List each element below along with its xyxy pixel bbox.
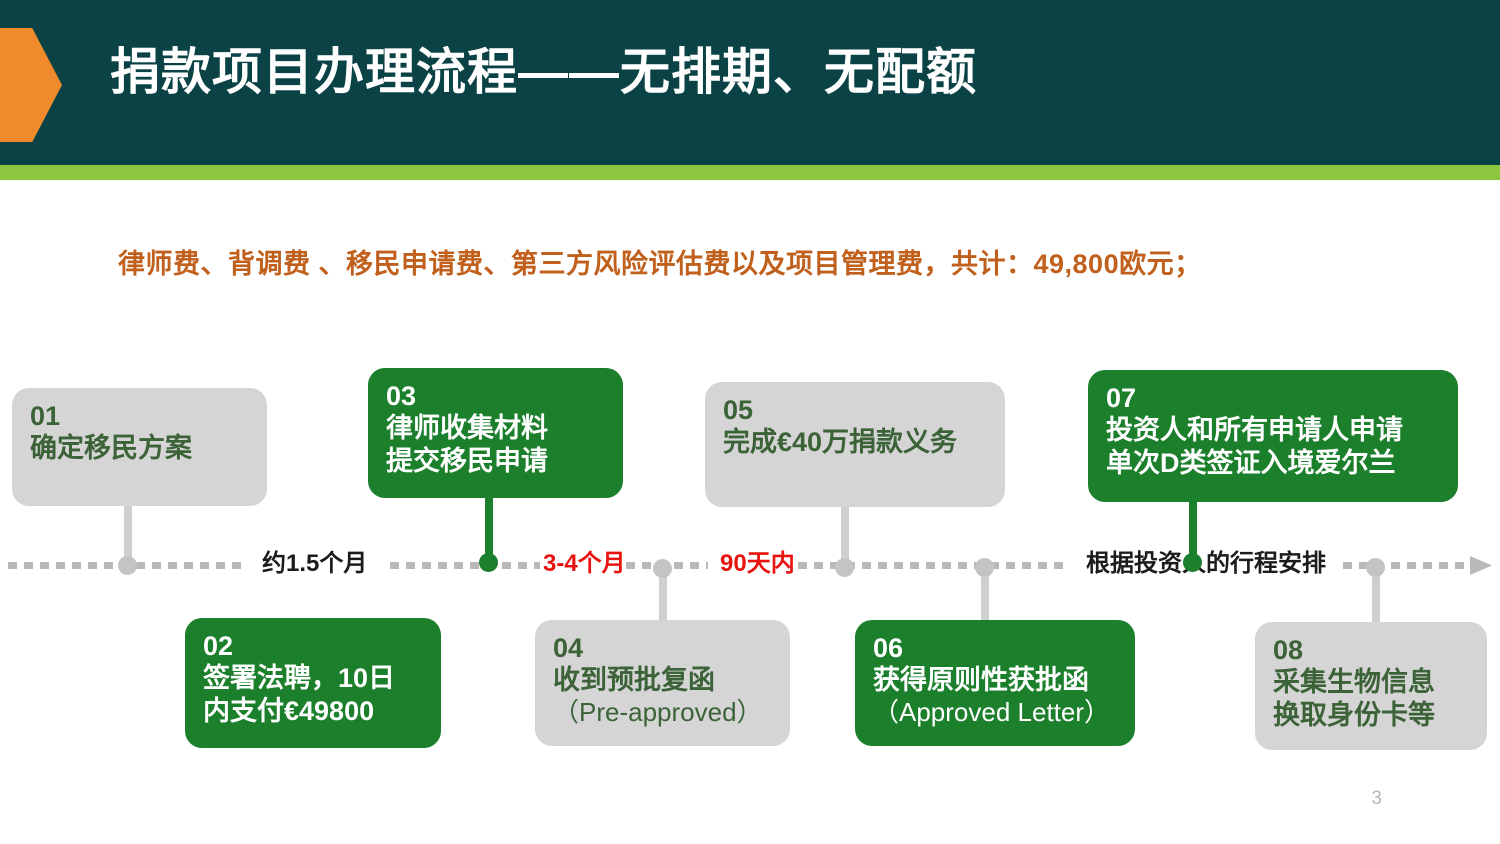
timeline-label-2: 3-4个月 (543, 552, 626, 576)
timeline-label-1: 约1.5个月 (262, 552, 367, 576)
slide-canvas: 捐款项目办理流程——无排期、无配额 律师费、背调费 、移民申请费、第三方风险评估… (0, 0, 1500, 844)
header-accent-bar (0, 165, 1500, 180)
arrow-right-icon (1470, 556, 1492, 575)
step-card-06[interactable]: 06 获得原则性获批函 （Approved Letter） (855, 620, 1135, 746)
step-subtitle-06: （Approved Letter） (873, 697, 1117, 728)
timeline-label-4: 根据投资人的行程安排 (1086, 552, 1326, 576)
step-body-07: 投资人和所有申请人申请 单次D类签证入境爱尔兰 (1106, 414, 1440, 479)
step-card-01[interactable]: 01 确定移民方案 (12, 388, 267, 506)
step-card-03[interactable]: 03 律师收集材料 提交移民申请 (368, 368, 623, 498)
page-number: 3 (1371, 788, 1382, 810)
step-number-04: 04 (553, 634, 772, 662)
step-number-06: 06 (873, 634, 1117, 662)
step-body-02: 签署法聘，10日 内支付€49800 (203, 662, 423, 727)
step-card-07[interactable]: 07 投资人和所有申请人申请 单次D类签证入境爱尔兰 (1088, 370, 1458, 502)
timeline-segment (390, 562, 540, 569)
step-body-08: 采集生物信息 换取身份卡等 (1273, 666, 1469, 731)
timeline-node-08 (1366, 558, 1385, 577)
step-card-05[interactable]: 05 完成€40万捐款义务 (705, 382, 1005, 507)
timeline-node-06 (975, 558, 994, 577)
step-body-03: 律师收集材料 提交移民申请 (386, 412, 605, 477)
page-title: 捐款项目办理流程——无排期、无配额 (110, 42, 977, 102)
timeline-segment (1343, 562, 1471, 569)
timeline-label-3: 90天内 (720, 552, 795, 576)
fee-summary-text: 律师费、背调费 、移民申请费、第三方风险评估费以及项目管理费，共计：49,800… (118, 242, 1202, 281)
step-card-02[interactable]: 02 签署法聘，10日 内支付€49800 (185, 618, 441, 748)
step-body-05: 完成€40万捐款义务 (723, 426, 987, 458)
step-number-08: 08 (1273, 636, 1469, 664)
step-number-07: 07 (1106, 384, 1440, 412)
step-card-08[interactable]: 08 采集生物信息 换取身份卡等 (1255, 622, 1487, 750)
step-number-02: 02 (203, 632, 423, 660)
timeline-node-07 (1183, 553, 1202, 572)
step-number-03: 03 (386, 382, 605, 410)
step-subtitle-04: （Pre-approved） (553, 697, 772, 728)
timeline-node-05 (835, 558, 854, 577)
timeline-node-01 (118, 556, 137, 575)
step-number-01: 01 (30, 402, 249, 430)
step-body-04: 收到预批复函 (553, 664, 772, 696)
step-number-05: 05 (723, 396, 987, 424)
timeline-node-03 (479, 553, 498, 572)
step-card-04[interactable]: 04 收到预批复函 （Pre-approved） (535, 620, 790, 746)
timeline-node-04 (653, 559, 672, 578)
step-body-01: 确定移民方案 (30, 432, 249, 464)
step-body-06: 获得原则性获批函 (873, 664, 1117, 696)
